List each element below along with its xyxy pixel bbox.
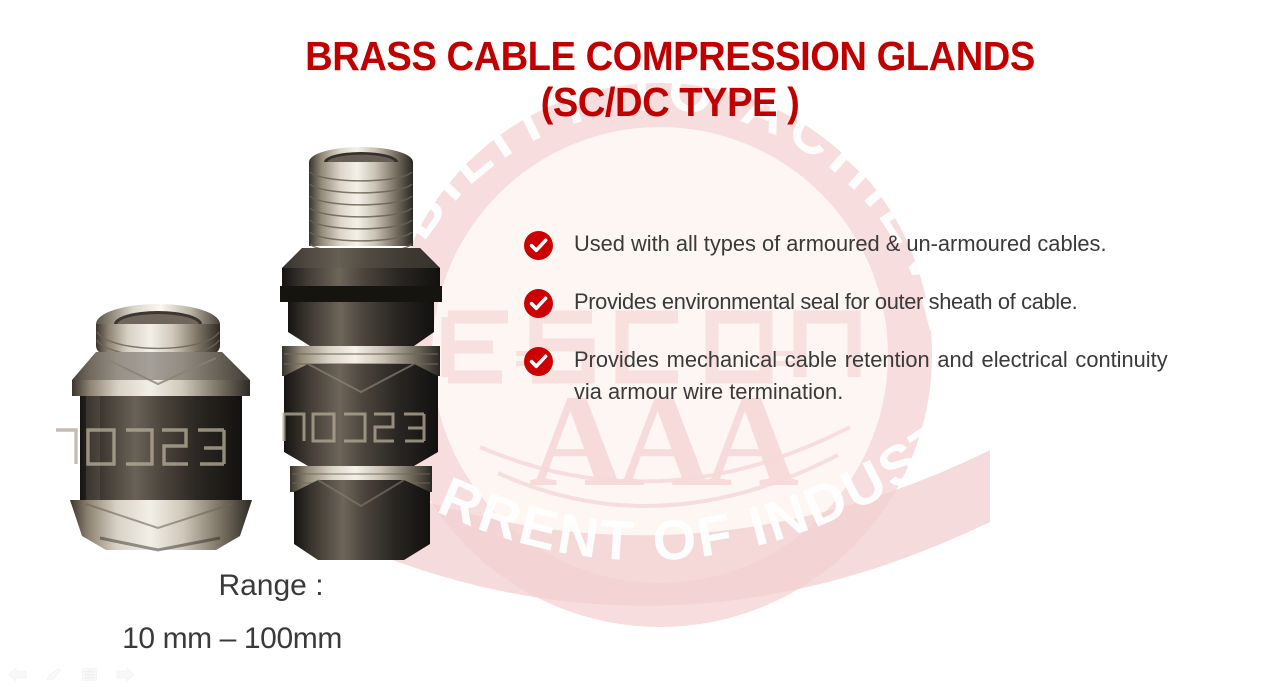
list-item-label: Used with all types of armoured & un-arm…: [574, 228, 1168, 260]
slide-menu-button[interactable]: [80, 667, 99, 682]
title-line-2: (SC/DC TYPE ): [186, 80, 1153, 126]
presentation-slide: • ABILITY TO ACHIEVE: [0, 0, 1280, 687]
list-item-label: Provides mechanical cable retention and …: [574, 344, 1168, 408]
next-slide-button[interactable]: [116, 667, 135, 682]
check-circle-icon: [524, 231, 553, 260]
range-value: 10 mm – 100mm: [60, 621, 460, 658]
arrow-left-icon: [9, 668, 26, 681]
feature-bullet-list: Used with all types of armoured & un-arm…: [524, 228, 1186, 408]
arrow-right-icon: [117, 668, 134, 681]
product-image-double-compression-gland: [272, 140, 450, 568]
list-item: Used with all types of armoured & un-arm…: [524, 228, 1186, 260]
previous-slide-button[interactable]: [8, 667, 27, 682]
list-item-label: Provides environmental seal for outer sh…: [574, 286, 1168, 318]
pen-icon: [47, 669, 61, 680]
slideshow-controls[interactable]: [8, 667, 135, 682]
range-label: Range :: [60, 568, 460, 605]
title-line-1: BRASS CABLE COMPRESSION GLANDS: [186, 34, 1153, 80]
list-item: Provides environmental seal for outer sh…: [524, 286, 1186, 318]
product-image-single-compression-gland: [56, 288, 266, 556]
menu-icon: [83, 669, 97, 681]
pen-tool-button[interactable]: [44, 667, 63, 682]
range-caption: Range : 10 mm – 100mm: [60, 568, 460, 657]
list-item: Provides mechanical cable retention and …: [524, 344, 1186, 408]
check-circle-icon: [524, 347, 553, 376]
check-circle-icon: [524, 289, 553, 318]
page-title: BRASS CABLE COMPRESSION GLANDS (SC/DC TY…: [150, 34, 1190, 126]
